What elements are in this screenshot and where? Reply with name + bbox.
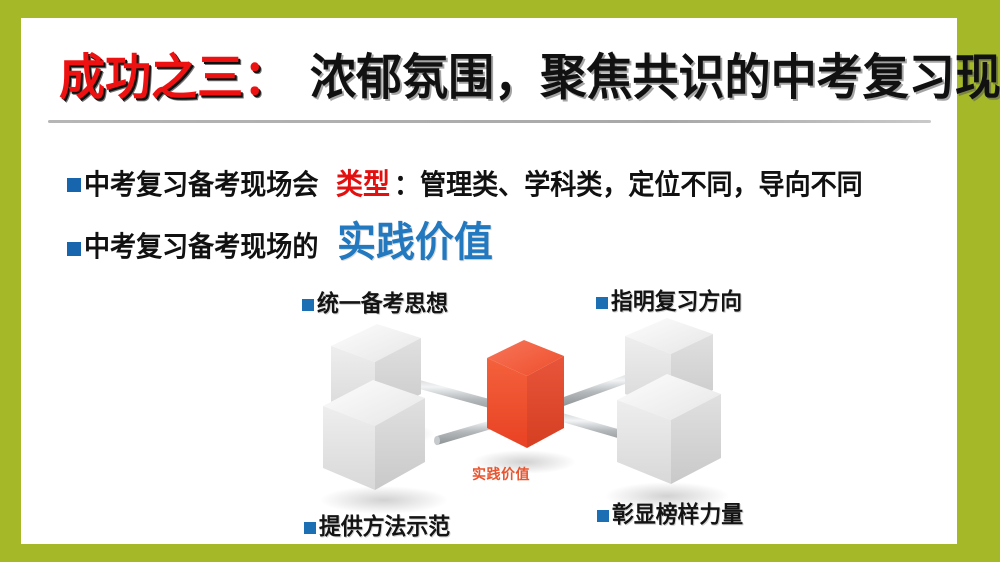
cube-diagram-graphic (309, 314, 739, 514)
bullet-item-1: 中考复习备考现场会 类型 ：管理类、学科类，定位不同，导向不同 (67, 170, 898, 199)
title-main: 浓郁氛围，聚焦共识的中考复习现场会 (310, 53, 1000, 102)
square-bullet-icon (302, 299, 314, 311)
diagram-label-bottom-right: 彰显榜样力量 (597, 504, 750, 527)
title-prefix: 成功之三： (59, 53, 289, 102)
slide-content-area: 成功之三： 浓郁氛围，聚焦共识的中考复习现场会 中考复习备考现场会 类型 ：管理… (21, 18, 957, 544)
diagram-label-text: 彰显榜样力量 (612, 504, 743, 527)
cube-diagram-svg (309, 314, 739, 514)
diagram-label-bottom-left: 提供方法示范 (304, 516, 457, 539)
bullet-1-segment-3: ：管理类、学科类，定位不同，导向不同 (394, 171, 863, 199)
diagram-label-text: 指明复习方向 (611, 291, 742, 314)
square-bullet-icon (596, 297, 608, 309)
bullet-1-segment-1: 中考复习备考现场会 (84, 171, 318, 199)
bullet-1-segment-2-highlight: 类型 (336, 170, 390, 199)
frame-band-top (0, 0, 1000, 18)
square-bullet-icon (304, 522, 316, 534)
slide-title: 成功之三： 浓郁氛围，聚焦共识的中考复习现场会 (59, 42, 949, 112)
bullet-2-segment-1: 中考复习备考现场的 (84, 233, 318, 261)
cube-shadow (320, 486, 448, 514)
bullet-item-2: 中考复习备考现场的 实践价值 (67, 222, 501, 263)
frame-band-bottom (0, 544, 1000, 562)
frame-band-left (0, 0, 21, 562)
square-bullet-icon (597, 510, 609, 522)
diagram-label-top-left: 统一备考思想 (302, 293, 455, 316)
bullet-2-segment-2-highlight: 实践价值 (337, 222, 493, 263)
square-bullet-icon (67, 178, 81, 192)
square-bullet-icon (67, 242, 81, 256)
diagram-label-top-right: 指明复习方向 (596, 291, 749, 314)
diagram-label-text: 提供方法示范 (319, 516, 450, 539)
title-divider (48, 120, 931, 123)
diagram-label-text: 统一备考思想 (317, 293, 448, 316)
diagram-center-caption: 实践价值 (472, 464, 530, 484)
cube-center-highlight (487, 340, 564, 448)
slide-canvas: 成功之三： 浓郁氛围，聚焦共识的中考复习现场会 中考复习备考现场会 类型 ：管理… (0, 0, 1000, 562)
